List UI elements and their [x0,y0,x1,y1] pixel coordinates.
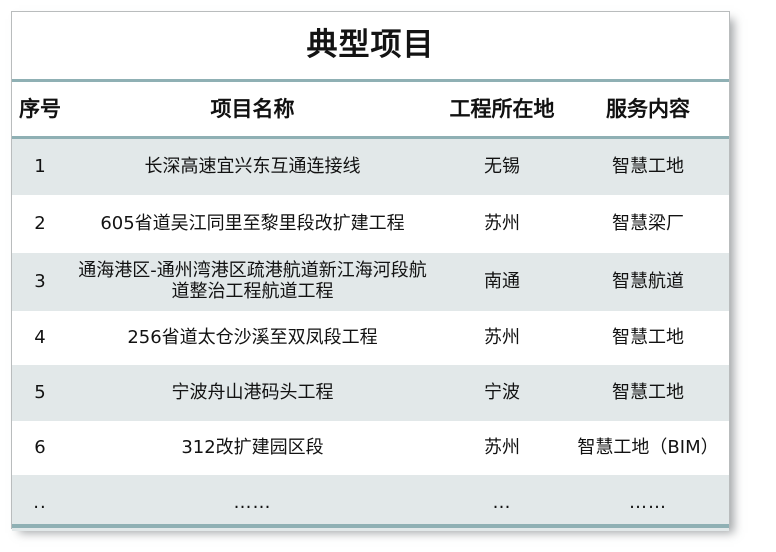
cell-no: 4 [12,328,68,349]
table-header-row: 序号 项目名称 工程所在地 服务内容 [12,82,729,136]
cell-name: 605省道吴江同里至黎里段改扩建工程 [68,214,437,235]
table-row: 4 256省道太仓沙溪至双凤段工程 苏州 智慧工地 [12,311,729,365]
cell-serv: 智慧工地 [567,383,729,404]
cell-loc: 宁波 [437,383,567,404]
table-row: 3 通海港区-通州湾港区疏港航道新江海河段航道整治工程航道工程 南通 智慧航道 [12,253,729,311]
column-header-serv: 服务内容 [567,97,729,121]
cell-name: 长深高速宜兴东互通连接线 [68,157,437,178]
cell-serv: 智慧工地 [567,157,729,178]
table-row-continuation: .. …… … …… [12,475,729,531]
cell-serv: 智慧梁厂 [567,214,729,235]
cell-name: …… [68,493,437,514]
typical-projects-table: 典型项目 序号 项目名称 工程所在地 服务内容 1 长深高速宜兴东互通连接线 无… [11,11,730,529]
cell-loc: 苏州 [437,438,567,459]
cell-no: 5 [12,383,68,404]
table-title-band: 典型项目 [12,12,729,79]
column-header-no: 序号 [12,97,68,121]
table-row: 1 长深高速宜兴东互通连接线 无锡 智慧工地 [12,139,729,195]
cell-name: 312改扩建园区段 [68,438,437,459]
cell-serv: 智慧工地（BIM） [567,438,729,459]
cell-no: 1 [12,157,68,178]
cell-name: 宁波舟山港码头工程 [68,383,437,404]
cell-name: 256省道太仓沙溪至双凤段工程 [68,328,437,349]
table-row: 6 312改扩建园区段 苏州 智慧工地（BIM） [12,421,729,475]
table-bottom-divider [12,524,729,528]
cell-no: 6 [12,438,68,459]
cell-loc: 无锡 [437,157,567,178]
cell-no: .. [12,493,68,514]
cell-loc: 苏州 [437,214,567,235]
cell-loc: 苏州 [437,328,567,349]
page-title: 典型项目 [307,30,435,61]
table-row: 2 605省道吴江同里至黎里段改扩建工程 苏州 智慧梁厂 [12,195,729,253]
cell-serv: 智慧航道 [567,272,729,293]
cell-serv: 智慧工地 [567,328,729,349]
cell-no: 2 [12,214,68,235]
cell-loc: … [437,493,567,514]
cell-name: 通海港区-通州湾港区疏港航道新江海河段航道整治工程航道工程 [68,261,437,303]
column-header-name: 项目名称 [68,97,437,121]
cell-serv: …… [567,493,729,514]
cell-no: 3 [12,272,68,293]
cell-loc: 南通 [437,272,567,293]
column-header-loc: 工程所在地 [437,97,567,121]
table-row: 5 宁波舟山港码头工程 宁波 智慧工地 [12,365,729,421]
table-inner: 典型项目 序号 项目名称 工程所在地 服务内容 1 长深高速宜兴东互通连接线 无… [12,12,729,528]
